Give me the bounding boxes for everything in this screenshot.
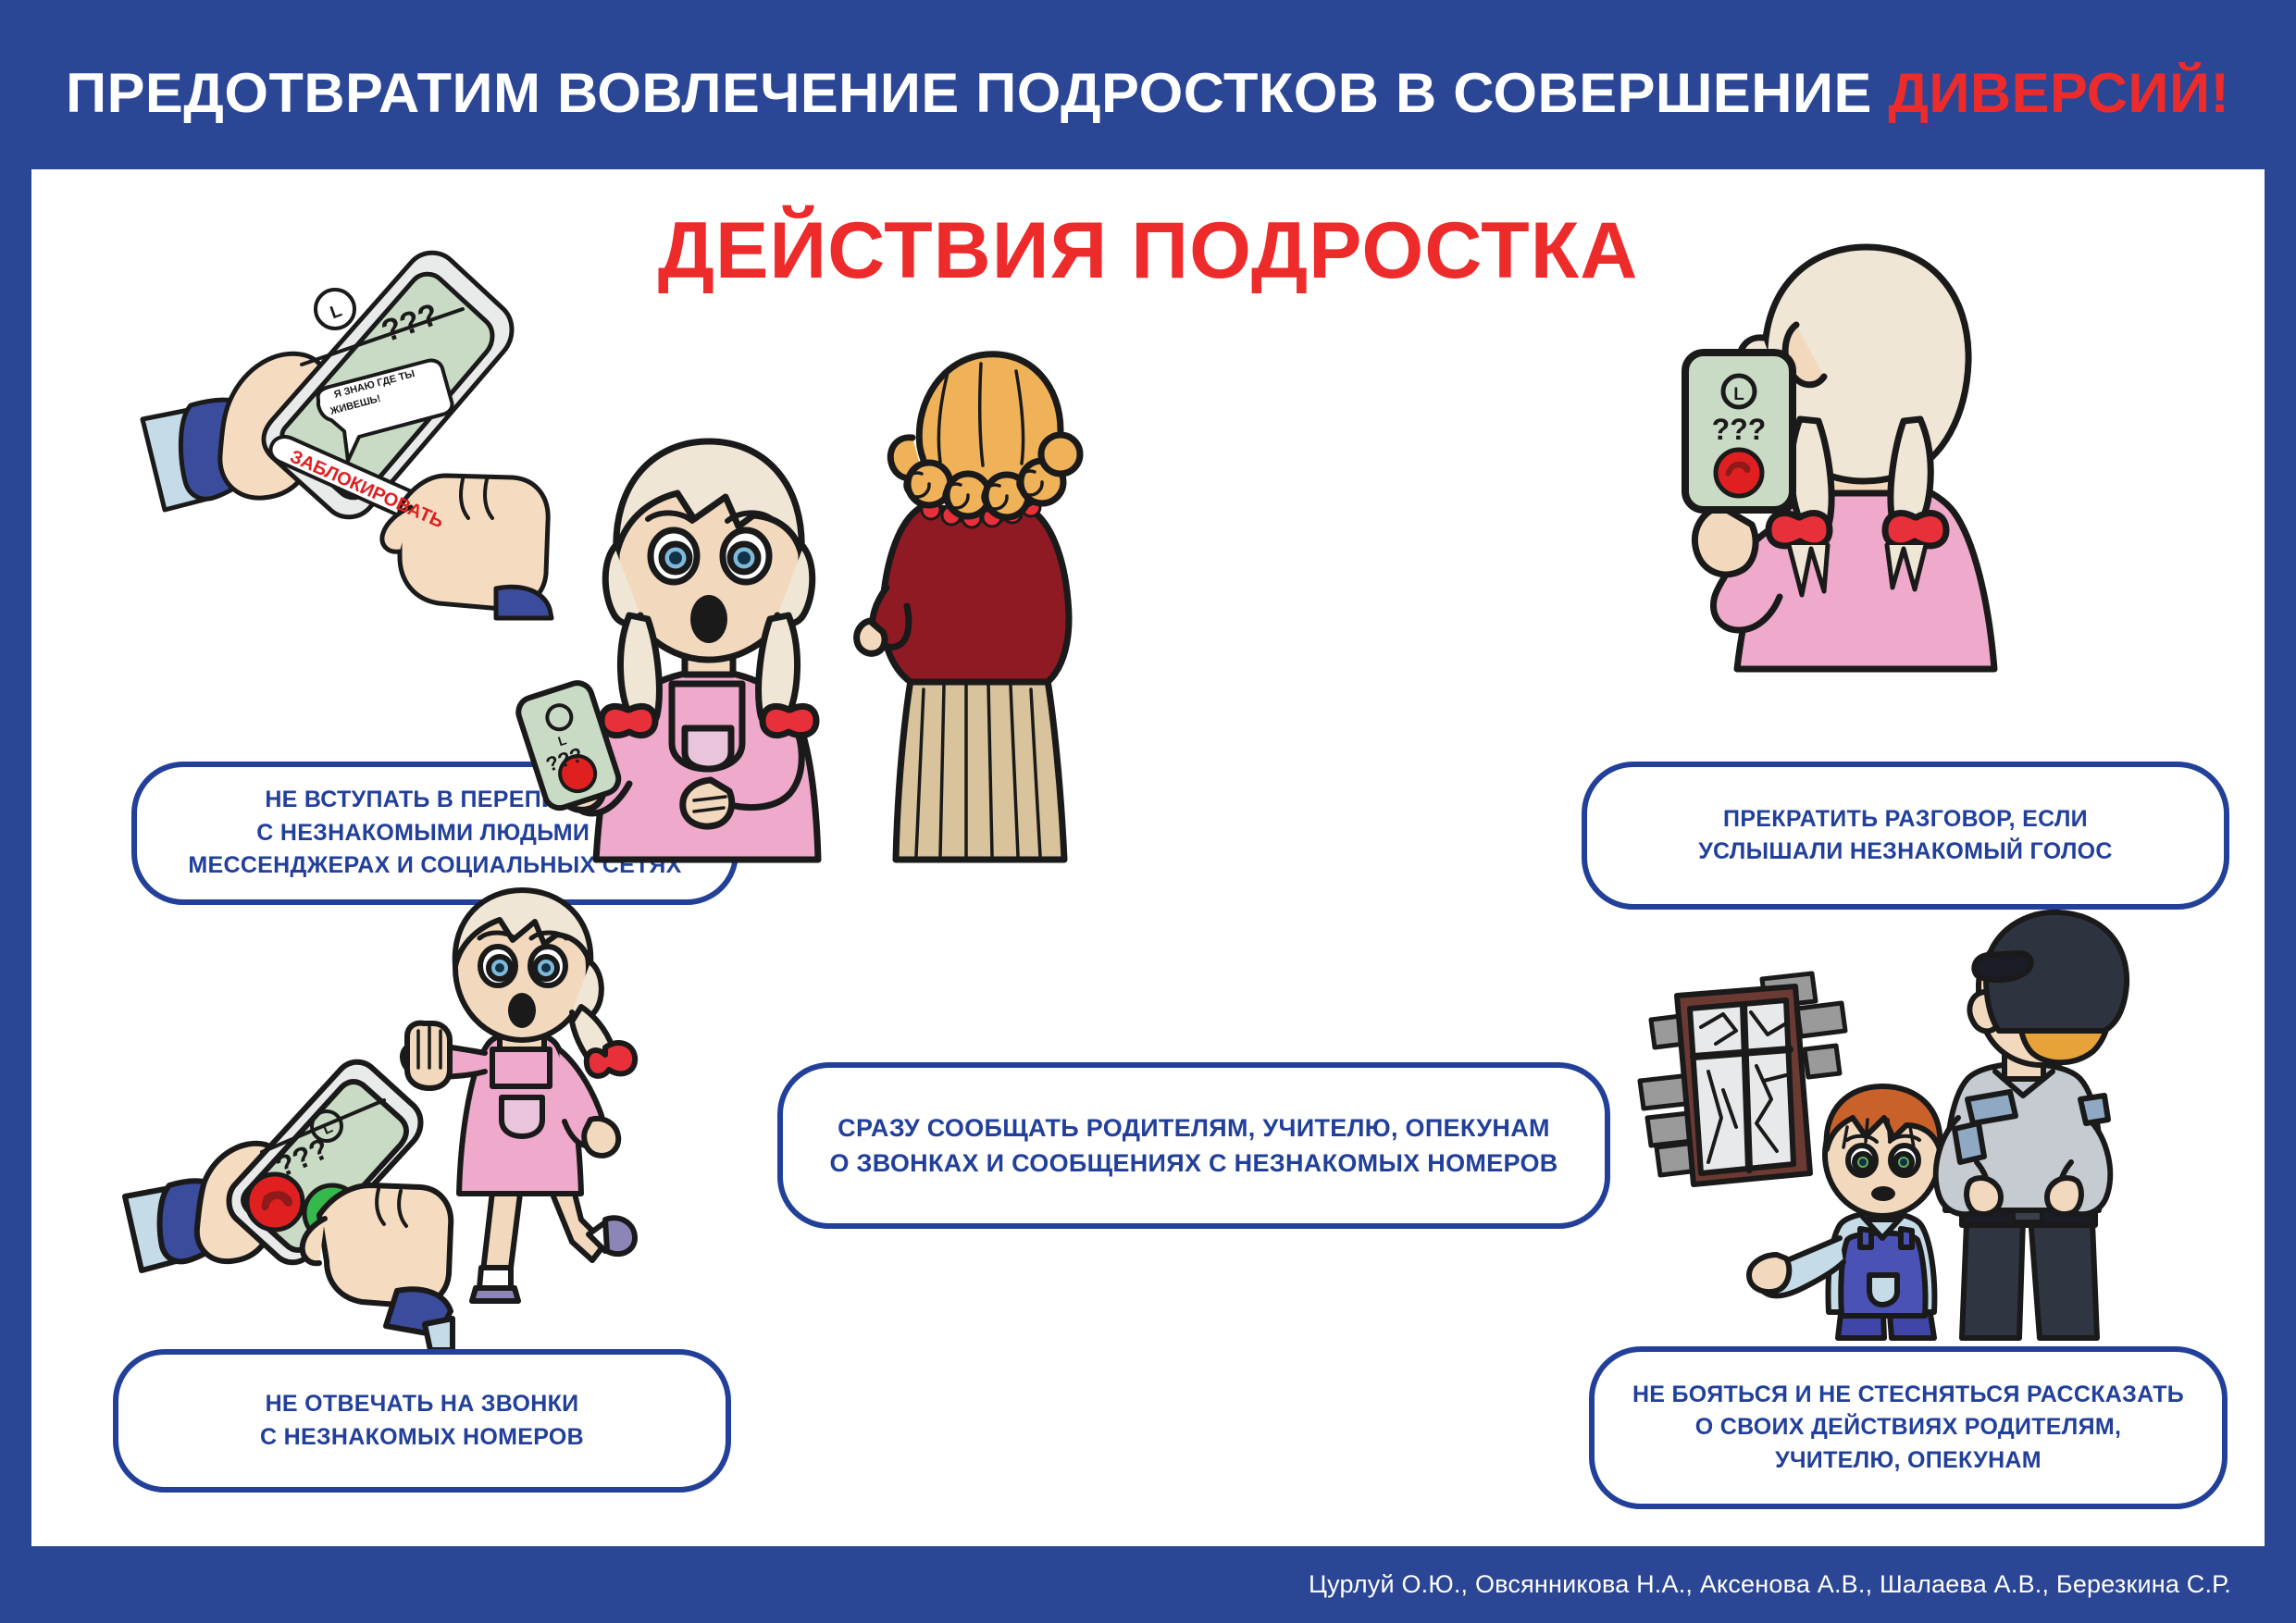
illustration-end-call: L ???	[1665, 234, 2063, 669]
caller-unknown-label: ???	[1712, 413, 1767, 446]
illustration-tell-parent: L ???	[513, 345, 1160, 863]
callout-text: СРАЗУ СООБЩАТЬ РОДИТЕЛЯМ, УЧИТЕЛЮ, ОПЕКУ…	[813, 1110, 1574, 1182]
callout-stop-conversation: ПРЕКРАТИТЬ РАЗГОВОР, ЕСЛИ УСЛЫШАЛИ НЕЗНА…	[1582, 762, 2229, 910]
page-title-main: ПРЕДОТВРАТИМ ВОВЛЕЧЕНИЕ ПОДРОСТКОВ В СОВ…	[66, 62, 1888, 124]
callout-text: НЕ БОЯТЬСЯ И НЕ СТЕСНЯТЬСЯ РАССКАЗАТЬ О …	[1616, 1379, 2201, 1478]
illustration-block-contact: L ??? Я ЗНАЮ ГДЕ ТЫ ЖИВЕШЬ! ЗАБЛОКИРОВАТ…	[133, 229, 559, 618]
illustration-report-to-police	[1605, 942, 2123, 1340]
sim-label: L	[1733, 385, 1744, 404]
footer-bar: Цурлуй О.Ю., Овсянникова Н.А., Аксенова …	[0, 1546, 2296, 1623]
content-area: ДЕЙСТВИЯ ПОДРОСТКА	[31, 169, 2265, 1546]
sim-label: L	[328, 301, 344, 323]
poster-root: ПРЕДОТВРАТИМ ВОВЛЕЧЕНИЕ ПОДРОСТКОВ В СОВ…	[0, 0, 2296, 1623]
callout-text: ПРЕКРАТИТЬ РАЗГОВОР, ЕСЛИ УСЛЫШАЛИ НЕЗНА…	[1682, 803, 2129, 869]
callout-do-not-answer: НЕ ОТВЕЧАТЬ НА ЗВОНКИ С НЕЗНАКОМЫХ НОМЕР…	[113, 1349, 731, 1493]
callout-not-afraid-to-tell: НЕ БОЯТЬСЯ И НЕ СТЕСНЯТЬСЯ РАССКАЗАТЬ О …	[1589, 1346, 2228, 1509]
page-title-accent: ДИВЕРСИЙ!	[1889, 62, 2230, 124]
footer-credits: Цурлуй О.Ю., Овсянникова Н.А., Аксенова …	[1309, 1570, 2296, 1599]
callout-report-immediately: СРАЗУ СООБЩАТЬ РОДИТЕЛЯМ, УЧИТЕЛЮ, ОПЕКУ…	[777, 1062, 1610, 1229]
page-title: ПРЕДОТВРАТИМ ВОВЛЕЧЕНИЕ ПОДРОСТКОВ В СОВ…	[66, 66, 2229, 169]
illustration-incoming-call: L ???	[119, 1048, 453, 1354]
header-bar: ПРЕДОТВРАТИМ ВОВЛЕЧЕНИЕ ПОДРОСТКОВ В СОВ…	[0, 0, 2296, 169]
callout-text: НЕ ОТВЕЧАТЬ НА ЗВОНКИ С НЕЗНАКОМЫХ НОМЕР…	[243, 1388, 601, 1454]
